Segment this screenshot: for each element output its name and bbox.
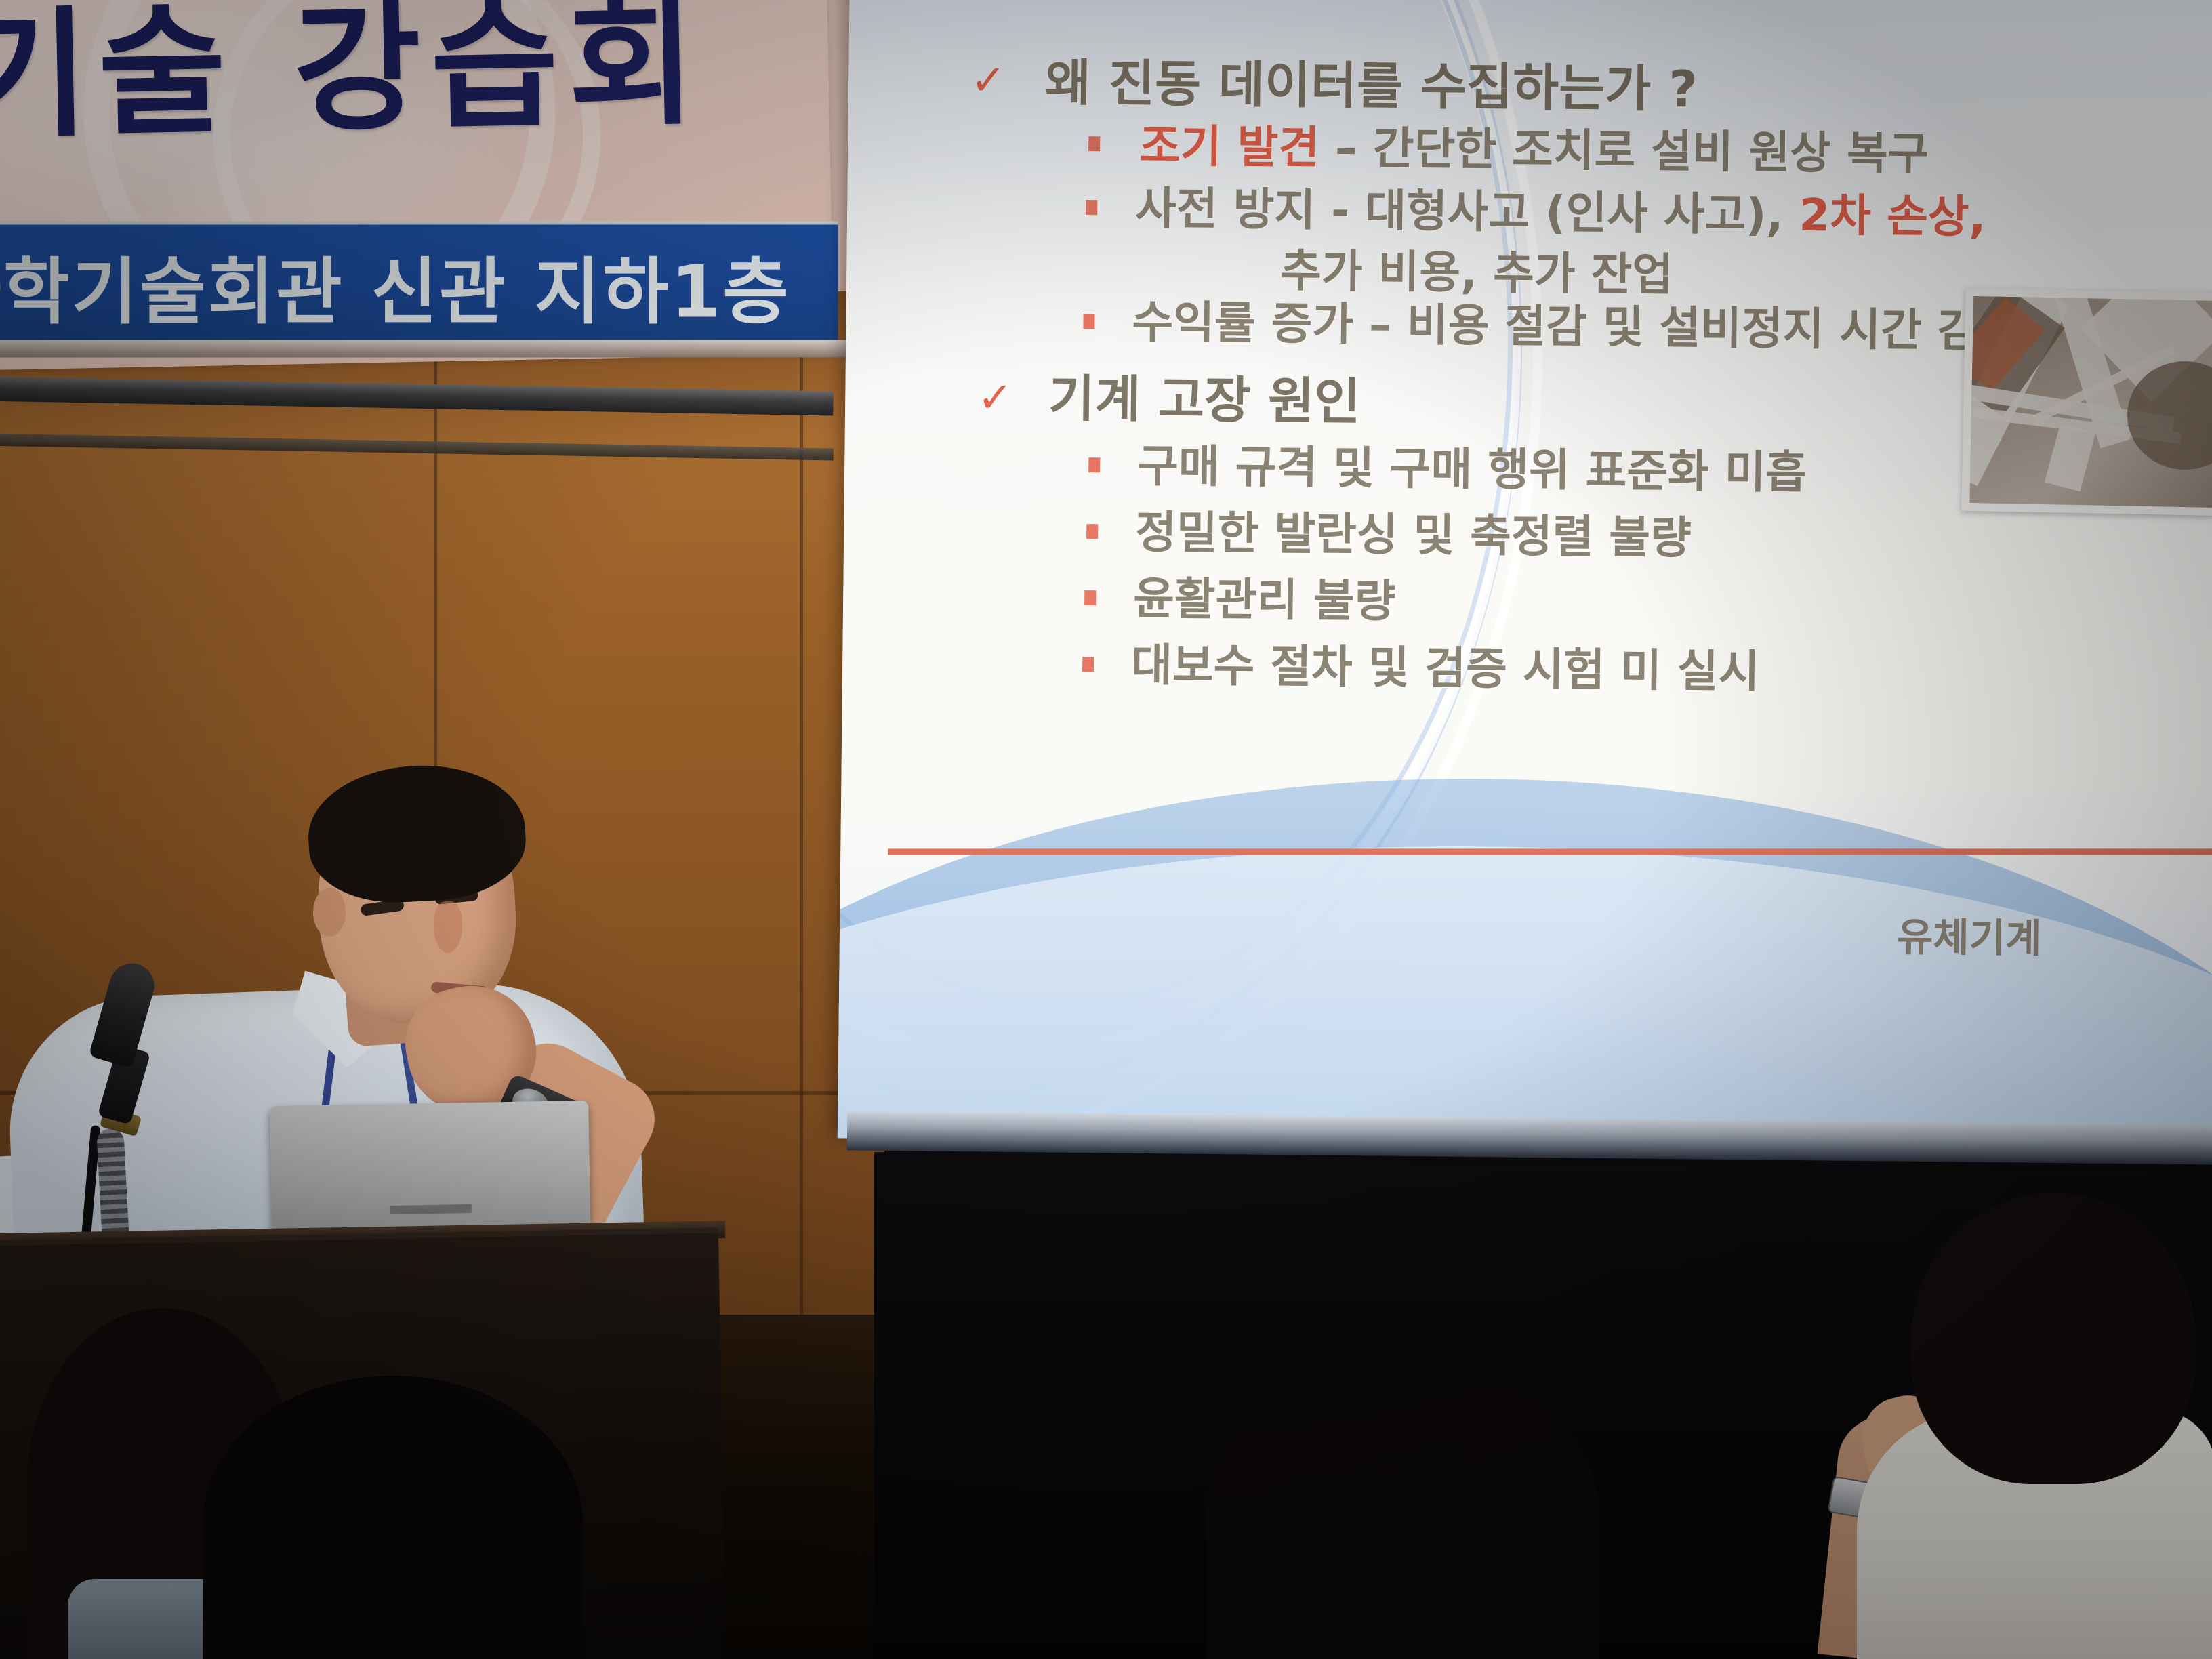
- event-banner: 기술 강습회 과학기술회관 신관 지하1층: [0, 0, 834, 370]
- slide-bullet-2-1: 구매 규격 및 구매 행위 표준화 미흡: [1137, 430, 1807, 501]
- slide-footer-text: 유체기계: [1897, 905, 2042, 964]
- bullet-square-icon: [1083, 314, 1094, 329]
- presenter-ear: [313, 888, 346, 937]
- slide-bullet-2-4: 대보수 절차 및 검증 시험 미 실시: [1131, 629, 1760, 701]
- laptop-logo: [390, 1204, 472, 1214]
- presentation-slide: ✓ 왜 진동 데이터를 수집하는가 ? 조기 발견 – 간단한 조치로 설비 원…: [838, 0, 2212, 1153]
- damaged-machinery-photo: [1969, 296, 2212, 508]
- slide-bullet-2-2: 정밀한 발란싱 및 축정렬 불량: [1135, 496, 1692, 567]
- bullet-square-icon: [1086, 200, 1097, 215]
- projection-screen: ✓ 왜 진동 데이터를 수집하는가 ? 조기 발견 – 간단한 조치로 설비 원…: [838, 0, 2212, 1153]
- shard: [2045, 423, 2096, 491]
- banner-bottom-edge: [0, 340, 847, 357]
- banner-venue-band: 과학기술회관 신관 지하1층: [0, 222, 838, 350]
- slide-bullet-1-1: 조기 발견 – 간단한 조치로 설비 원상 복구: [1139, 110, 1929, 183]
- slide-content: ✓ 왜 진동 데이터를 수집하는가 ? 조기 발견 – 간단한 조치로 설비 원…: [838, 0, 2212, 1153]
- bullet-square-icon: [1088, 457, 1100, 472]
- audience-head-center: [1206, 1362, 1599, 1659]
- checkmark-icon-2: ✓: [977, 372, 1013, 422]
- slide-bullet-2-3: 윤활관리 불량: [1133, 562, 1396, 630]
- bullet-red-emphasis: 2차 손상,: [1799, 189, 1986, 243]
- slide-heading-2: 기계 고장 원인: [1048, 358, 1361, 434]
- bullet-rest: – 간단한 조치로 설비 원상 복구: [1319, 122, 1929, 180]
- bullet-square-icon: [1084, 590, 1096, 605]
- bullet-square-icon: [1086, 524, 1098, 539]
- slide-bullet-1-2: 사전 방지 - 대형사고 (인사 사고), 2차 손상,: [1135, 172, 1986, 246]
- checkmark-icon-1: ✓: [970, 55, 1006, 105]
- photo-scene: 기술 강습회 과학기술회관 신관 지하1층 ✓ 왜 진동 데이터를 수집하는가 …: [0, 0, 2212, 1659]
- audience-head-center-left: [203, 1376, 583, 1659]
- slide-bullet-1-3: 수익률 증가 – 비용 절감 및 설비정지 시간 감소: [1132, 286, 2020, 361]
- bullet-square-icon: [1088, 136, 1100, 151]
- bullet-square-icon: [1082, 657, 1094, 672]
- banner-venue-text: 과학기술회관 신관 지하1층: [0, 234, 791, 338]
- slide-thumbnail-image: [1961, 288, 2212, 516]
- presenter-nose: [434, 901, 462, 953]
- banner-title-text: 기술 강습회: [0, 0, 830, 165]
- bullet-rest: 사전 방지 - 대형사고 (인사 사고),: [1135, 182, 1799, 241]
- bullet-red-emphasis: 조기 발견: [1139, 120, 1320, 174]
- audience-right-head: [1911, 1193, 2196, 1484]
